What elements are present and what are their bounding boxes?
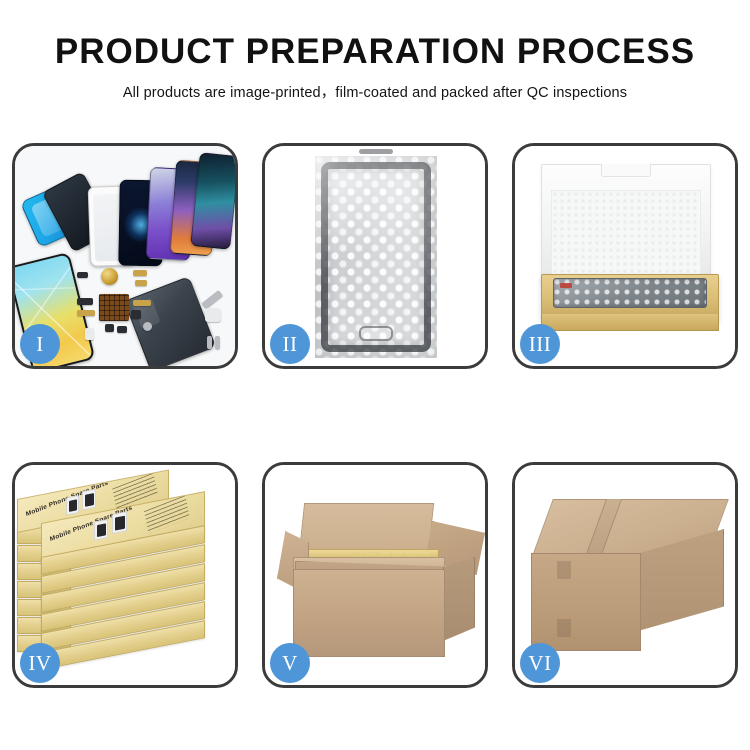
- bubble-wrap-graphic: [315, 156, 437, 358]
- page-title: PRODUCT PREPARATION PROCESS: [0, 34, 750, 69]
- step-badge-1: I: [20, 324, 60, 364]
- packed-screen-graphic: [553, 278, 707, 308]
- page-subtitle: All products are image-printed，film-coat…: [0, 81, 750, 102]
- process-step-grid: I II III: [12, 143, 738, 688]
- spare-part-graphic: [133, 300, 151, 306]
- screw-graphic: [215, 336, 220, 349]
- step-badge-6: VI: [520, 643, 560, 683]
- process-step-2: II: [262, 143, 488, 369]
- process-step-6: VI: [512, 462, 738, 688]
- carton-handle-notch: [557, 619, 571, 637]
- spare-part-graphic: [135, 280, 147, 286]
- foam-lining-graphic: [551, 190, 701, 278]
- home-button-graphic: [359, 326, 393, 341]
- step-badge-4: IV: [20, 643, 60, 683]
- earpiece-graphic: [359, 149, 393, 154]
- spare-part-graphic: [77, 298, 93, 305]
- carton-front-face: [293, 569, 445, 657]
- wrapped-screen-graphic: [321, 162, 431, 352]
- step-badge-5: V: [270, 643, 310, 683]
- phone-back-housing-graphic: [124, 276, 217, 366]
- carton-side-face: [443, 557, 475, 641]
- process-step-4: Mobile Phone Spare Parts Mobile Phone Sp…: [12, 462, 238, 688]
- spare-part-graphic: [85, 328, 94, 340]
- box-label-lines: [144, 495, 190, 534]
- carton-front-face: [531, 553, 641, 651]
- spare-part-graphic: [105, 324, 114, 332]
- tray-front-edge-graphic: [541, 314, 719, 331]
- spare-part-graphic: [133, 270, 147, 276]
- spare-part-graphic: [77, 272, 88, 278]
- page-header: PRODUCT PREPARATION PROCESS All products…: [0, 0, 750, 102]
- step-badge-2: II: [270, 324, 310, 364]
- logic-board-graphic: [99, 294, 129, 321]
- spare-part-graphic: [205, 308, 221, 322]
- screw-graphic: [207, 336, 212, 349]
- vibration-motor-graphic: [101, 268, 118, 285]
- spare-part-graphic: [201, 290, 223, 309]
- spare-part-graphic: [77, 310, 95, 316]
- process-step-1: I: [12, 143, 238, 369]
- process-step-3: III: [512, 143, 738, 369]
- spare-part-graphic: [143, 322, 152, 331]
- step-badge-3: III: [520, 324, 560, 364]
- process-step-5: V: [262, 462, 488, 688]
- spare-part-graphic: [131, 310, 141, 319]
- carton-handle-notch: [557, 561, 571, 579]
- spare-part-graphic: [117, 326, 127, 333]
